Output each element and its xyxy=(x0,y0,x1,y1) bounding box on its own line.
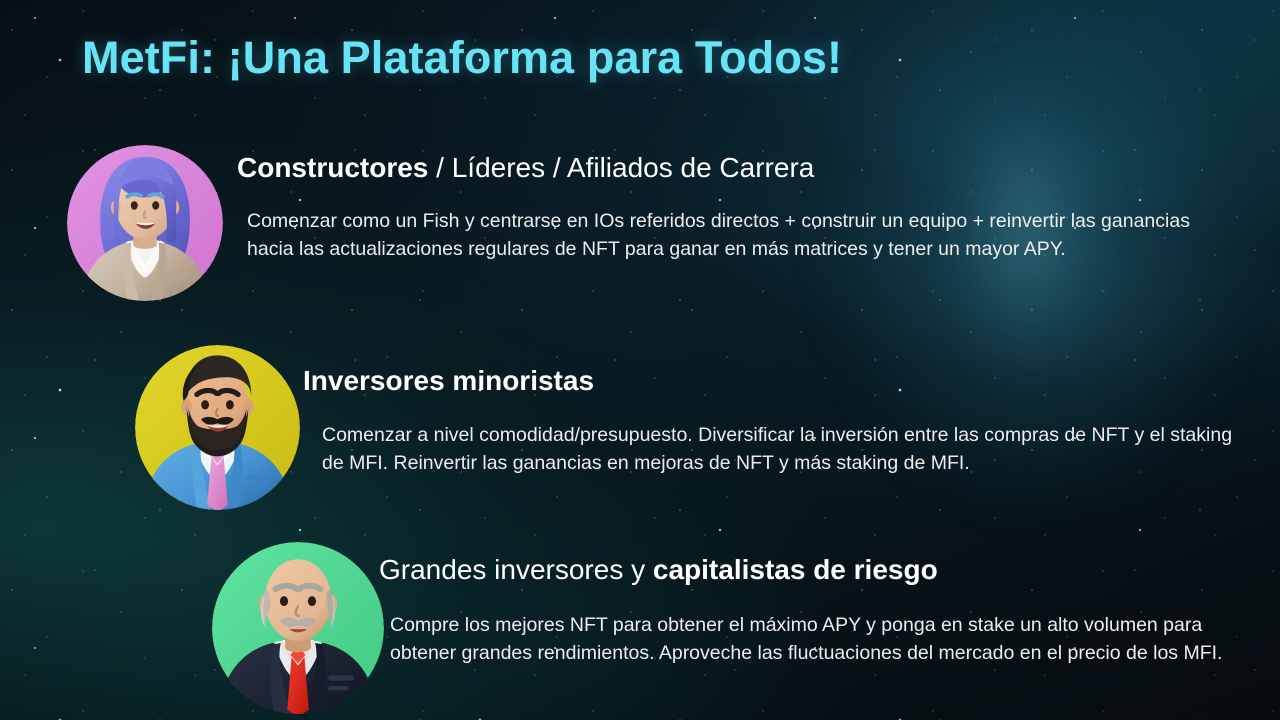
body-constructores: Comenzar como un Fish y centrarse en IOs… xyxy=(247,208,1202,263)
heading-constructores-rest: / Líderes / Afiliados de Carrera xyxy=(428,152,814,183)
heading-inversores-bold: Inversores minoristas xyxy=(303,365,594,396)
avatar-bearded-man-suit xyxy=(135,345,300,510)
avatar-elderly-man-suit-art xyxy=(212,542,384,714)
body-grandes-inversores: Compre los mejores NFT para obtener el m… xyxy=(390,612,1270,667)
avatar-bearded-man-suit-art xyxy=(135,345,300,510)
body-inversores-minoristas: Comenzar a nivel comodidad/presupuesto. … xyxy=(322,422,1237,477)
page-title: MetFi: ¡Una Plataforma para Todos! xyxy=(82,32,842,84)
heading-grandes-rest: Grandes inversores y xyxy=(379,554,653,585)
heading-inversores-minoristas: Inversores minoristas xyxy=(303,365,594,397)
heading-constructores: Constructores / Líderes / Afiliados de C… xyxy=(237,152,814,184)
heading-grandes-bold: capitalistas de riesgo xyxy=(653,554,938,585)
avatar-woman-blue-hair-art xyxy=(67,145,223,301)
avatar-woman-blue-hair xyxy=(67,145,223,301)
heading-grandes-inversores: Grandes inversores y capitalistas de rie… xyxy=(379,554,938,586)
avatar-elderly-man-suit xyxy=(212,542,384,714)
heading-constructores-bold: Constructores xyxy=(237,152,428,183)
slide-root: MetFi: ¡Una Plataforma para Todos! xyxy=(0,0,1280,720)
